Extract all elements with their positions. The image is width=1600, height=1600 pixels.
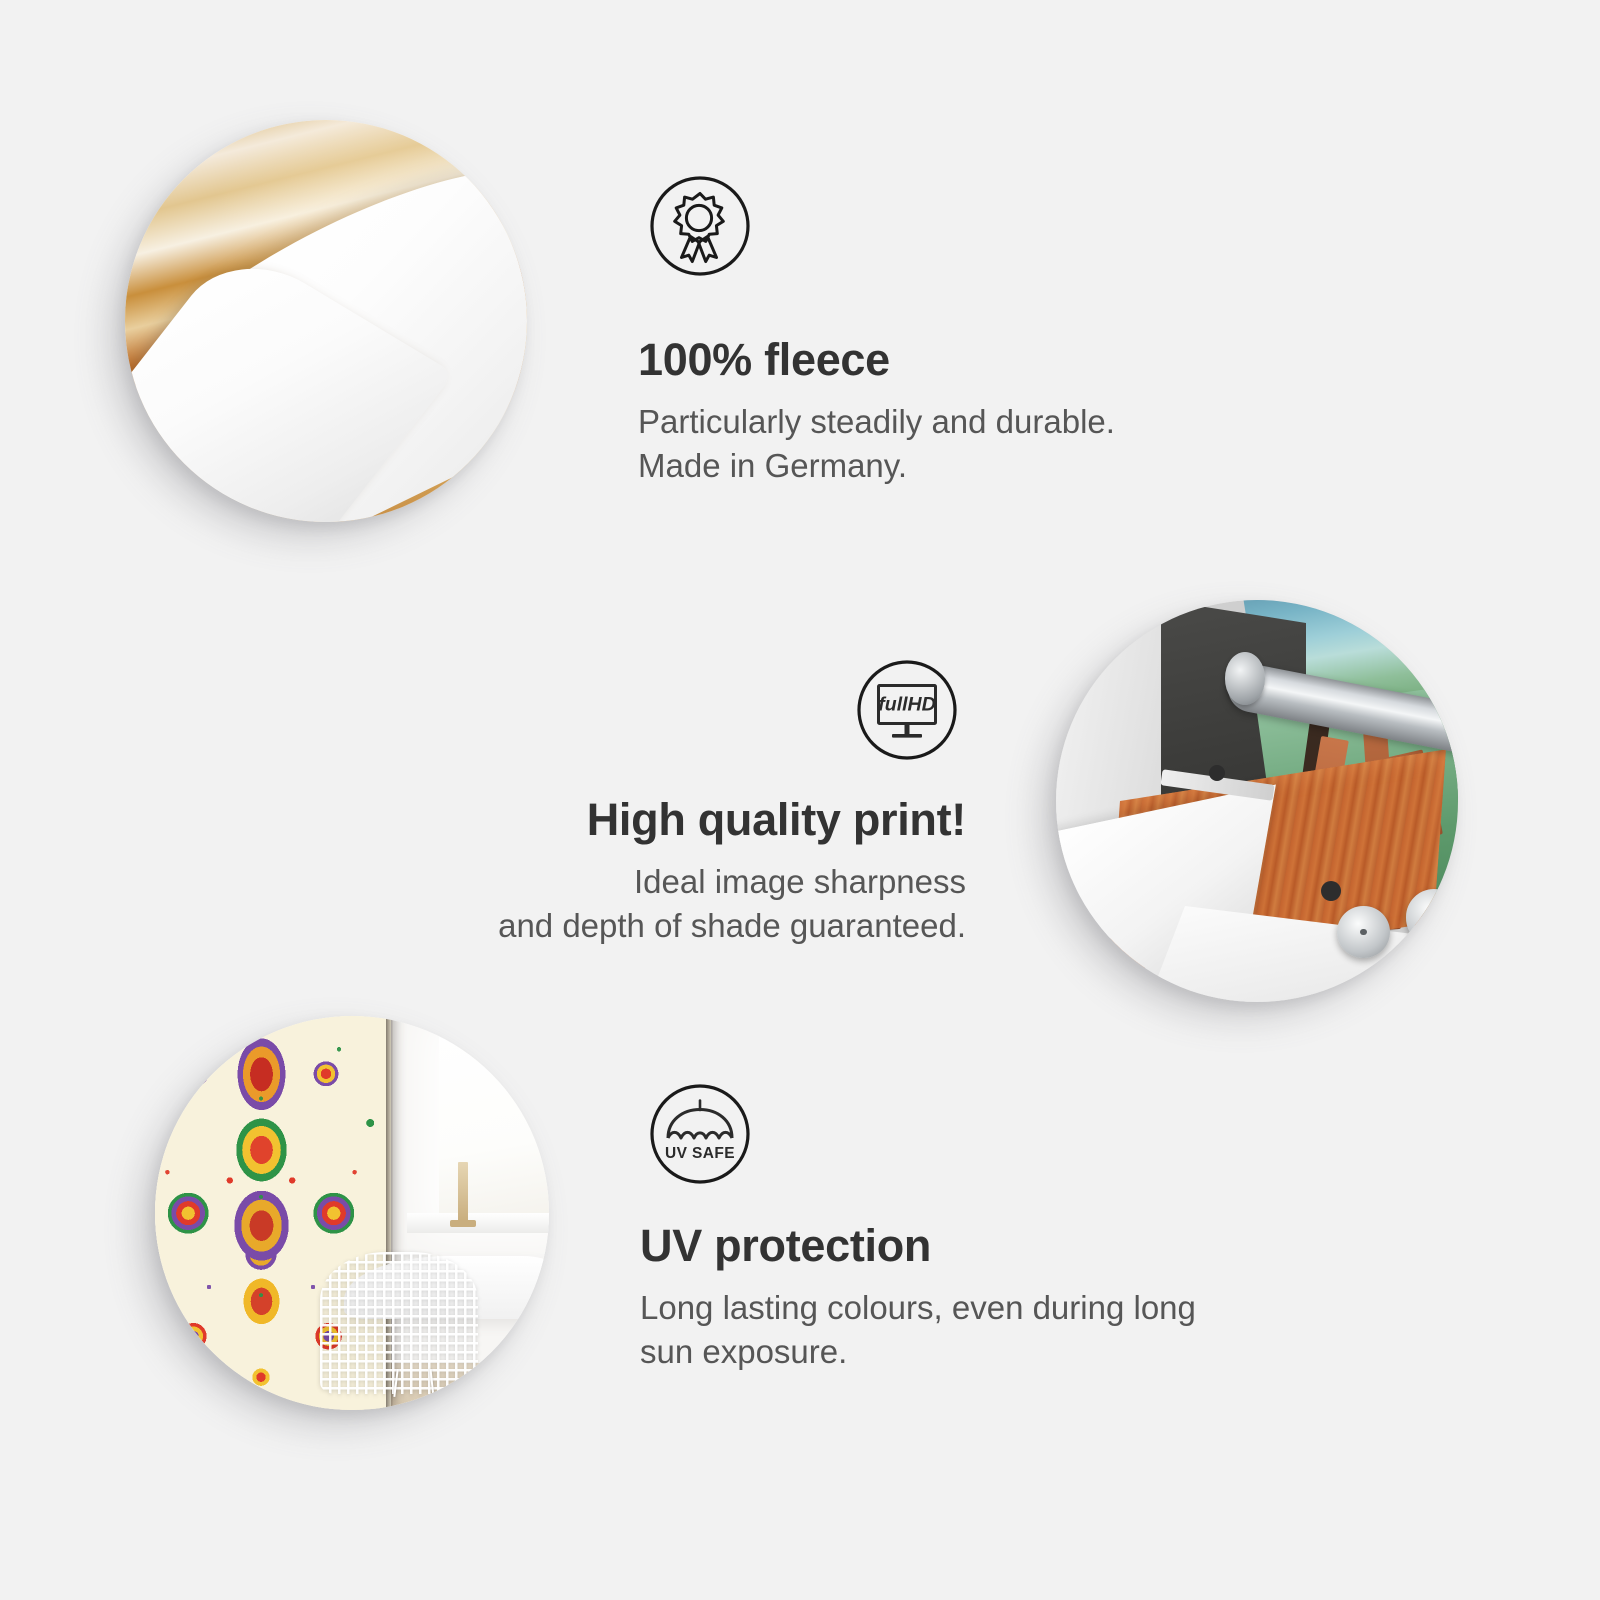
photo-inner bbox=[1056, 600, 1458, 1002]
room-window-sill bbox=[407, 1213, 549, 1233]
feature-title-fleece: 100% fleece bbox=[638, 336, 1398, 384]
chair-leg bbox=[393, 1369, 399, 1397]
large-format-printer-photo bbox=[1056, 600, 1458, 1002]
feature-text-uv: UV protection Long lasting colours, even… bbox=[640, 1222, 1400, 1374]
printer-roller-wheel bbox=[1337, 906, 1389, 958]
printer-roller-wheel bbox=[1406, 889, 1458, 945]
feature-desc-fleece: Particularly steadily and durable. Made … bbox=[638, 400, 1398, 488]
feature-desc-print: Ideal image sharpness and depth of shade… bbox=[400, 860, 966, 948]
fullhd-icon-label: fullHD bbox=[878, 694, 935, 716]
uv-safe-umbrella-icon: UV SAFE bbox=[648, 1082, 752, 1186]
feature-title-uv: UV protection bbox=[640, 1222, 1400, 1270]
room-window bbox=[439, 1032, 549, 1221]
feature-desc-line: Particularly steadily and durable. bbox=[638, 400, 1398, 444]
award-ribbon-icon bbox=[648, 174, 752, 278]
feature-desc-line: sun exposure. bbox=[640, 1330, 1400, 1374]
feature-desc-line: Made in Germany. bbox=[638, 444, 1398, 488]
feature-text-fleece: 100% fleece Particularly steadily and du… bbox=[638, 336, 1398, 488]
feature-desc-line: and depth of shade guaranteed. bbox=[400, 904, 966, 948]
feature-text-print: High quality print! Ideal image sharpnes… bbox=[400, 796, 966, 948]
chair-leg bbox=[429, 1369, 434, 1397]
uv-safe-icon-label: UV SAFE bbox=[665, 1145, 735, 1162]
peeling-fleece-wallpaper-photo bbox=[125, 120, 527, 522]
infographic-stage: 100% fleece Particularly steadily and du… bbox=[0, 0, 1600, 1600]
photo-inner bbox=[125, 120, 527, 522]
wire-chair bbox=[320, 1252, 478, 1394]
feature-title-print: High quality print! bbox=[400, 796, 966, 844]
mandala-wallpaper-room-photo bbox=[155, 1016, 549, 1410]
feature-desc-uv: Long lasting colours, even during long s… bbox=[640, 1286, 1400, 1374]
photo-inner bbox=[155, 1016, 549, 1410]
feature-desc-line: Ideal image sharpness bbox=[400, 860, 966, 904]
feature-desc-line: Long lasting colours, even during long bbox=[640, 1286, 1400, 1330]
fullhd-monitor-icon: fullHD bbox=[855, 658, 959, 762]
candlestick bbox=[458, 1162, 467, 1221]
printer-knob bbox=[1209, 765, 1225, 781]
printer-roller-cap bbox=[1225, 652, 1265, 704]
